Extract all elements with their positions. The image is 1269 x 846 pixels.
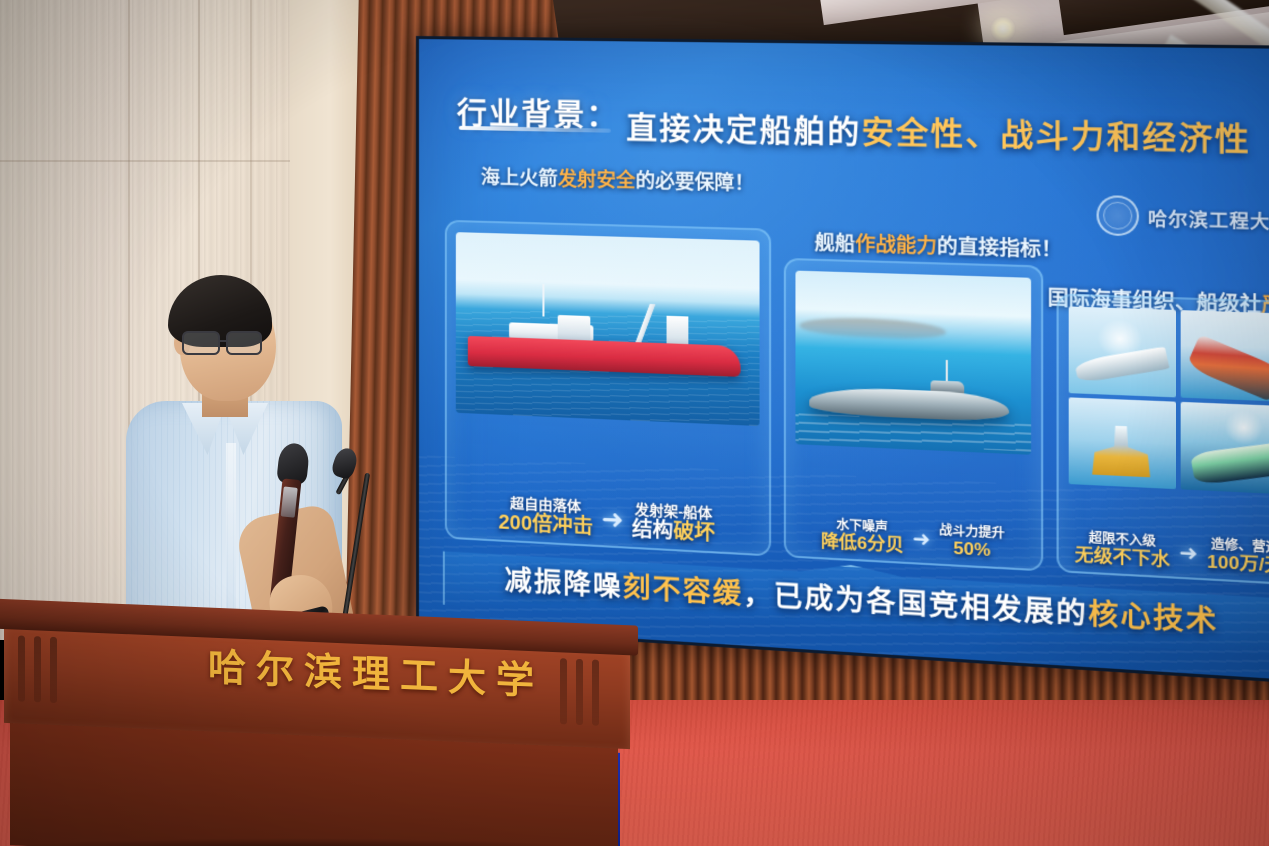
panel-3-effect: 造修、营运 100万/天 <box>1207 537 1269 576</box>
slide-panel-rocket-vessel: 超自由落体 200倍冲击 ➜ 发射架-船体 结构破坏 <box>445 220 771 557</box>
slide-title-statement: 直接决定船舶的安全性、战斗力和经济性 <box>626 102 1251 160</box>
panel-1-cause: 超自由落体 200倍冲击 <box>498 495 593 538</box>
lead-1-highlight: 发射安全 <box>558 169 636 192</box>
mini-photo-container-ship <box>1181 310 1269 402</box>
photo-rocket-launch-vessel <box>456 232 760 426</box>
projection-screen: 行业背景： 直接决定船舶的安全性、战斗力和经济性 海上火箭发射安全的必要保障！ … <box>416 36 1269 685</box>
university-name: 哈尔滨工程大学 <box>1148 203 1269 233</box>
lead-1-post: 的必要保障！ <box>636 171 755 195</box>
panel-1-effect: 发射架-船体 结构破坏 <box>632 502 715 545</box>
slide-panel-submarine: 水下噪声 降低6分贝 ➜ 战斗力提升 50% <box>784 258 1043 572</box>
podium-lectern: 哈尔滨理工大学 <box>0 612 650 846</box>
panel-3-cause: 超限不入级 无级不下水 <box>1075 530 1170 570</box>
ceiling-downlight <box>990 16 1016 42</box>
panel-2-effect: 战斗力提升 50% <box>939 523 1005 561</box>
speaker-presenter <box>120 275 420 655</box>
panel-3-caption: 超限不入级 无级不下水 ➜ 造修、营运 100万/天 <box>1059 530 1269 577</box>
mini-photo-lng-carrier <box>1181 402 1269 495</box>
presentation-photo: 行业背景： 直接决定船舶的安全性、战斗力和经济性 海上火箭发射安全的必要保障！ … <box>0 0 1269 846</box>
slide-panel-ship-types: 超限不入级 无级不下水 ➜ 造修、营运 100万/天 <box>1057 293 1269 585</box>
panel-3-effect-big: 100万/天 <box>1207 552 1269 577</box>
glasses-icon <box>182 331 278 357</box>
panel-1-cause-big: 200倍冲击 <box>498 511 593 539</box>
panel-1-caption: 超自由落体 200倍冲击 ➜ 发射架-船体 结构破坏 <box>447 493 769 549</box>
mini-photo-offshore-platform <box>1069 397 1176 489</box>
panel-1-effect-big-pre: 结构 <box>632 518 673 543</box>
banner-highlight-2: 核心技术 <box>1088 598 1219 638</box>
mini-photo-naval-warship <box>1069 306 1176 397</box>
panel-3-cause-big: 无级不下水 <box>1075 545 1170 570</box>
slide-panel-group: 超自由落体 200倍冲击 ➜ 发射架-船体 结构破坏 <box>445 212 1269 590</box>
slide-title-statement-pre: 直接决定船舶的 <box>626 112 861 150</box>
photo-ship-types-grid <box>1069 306 1269 494</box>
panel-1-effect-big-highlight: 破坏 <box>673 520 715 545</box>
banner-highlight-1: 刻不容缓 <box>623 571 744 609</box>
podium-shadow <box>0 838 590 846</box>
panel-1-effect-big: 结构破坏 <box>632 518 715 545</box>
lead-1-pre: 海上火箭 <box>481 167 558 190</box>
slide-lead-line-1: 海上火箭发射安全的必要保障！ <box>481 162 754 196</box>
panel-2-cause-big: 降低6分贝 <box>821 531 904 555</box>
arrow-right-icon: ➜ <box>1179 540 1198 568</box>
panel-2-effect-big: 50% <box>939 537 1005 560</box>
panel-2-cause: 水下噪声 降低6分贝 <box>821 517 904 555</box>
panel-2-caption: 水下噪声 降低6分贝 ➜ 战斗力提升 50% <box>786 516 1041 563</box>
banner-pre: 减振降噪 <box>505 565 623 602</box>
arrow-right-icon: ➜ <box>912 526 930 553</box>
arrow-right-icon: ➜ <box>601 504 623 537</box>
microphone-head-icon <box>276 442 310 485</box>
slide-title-statement-highlight: 安全性、战斗力和经济性 <box>862 116 1252 158</box>
photo-submarine <box>795 271 1031 455</box>
